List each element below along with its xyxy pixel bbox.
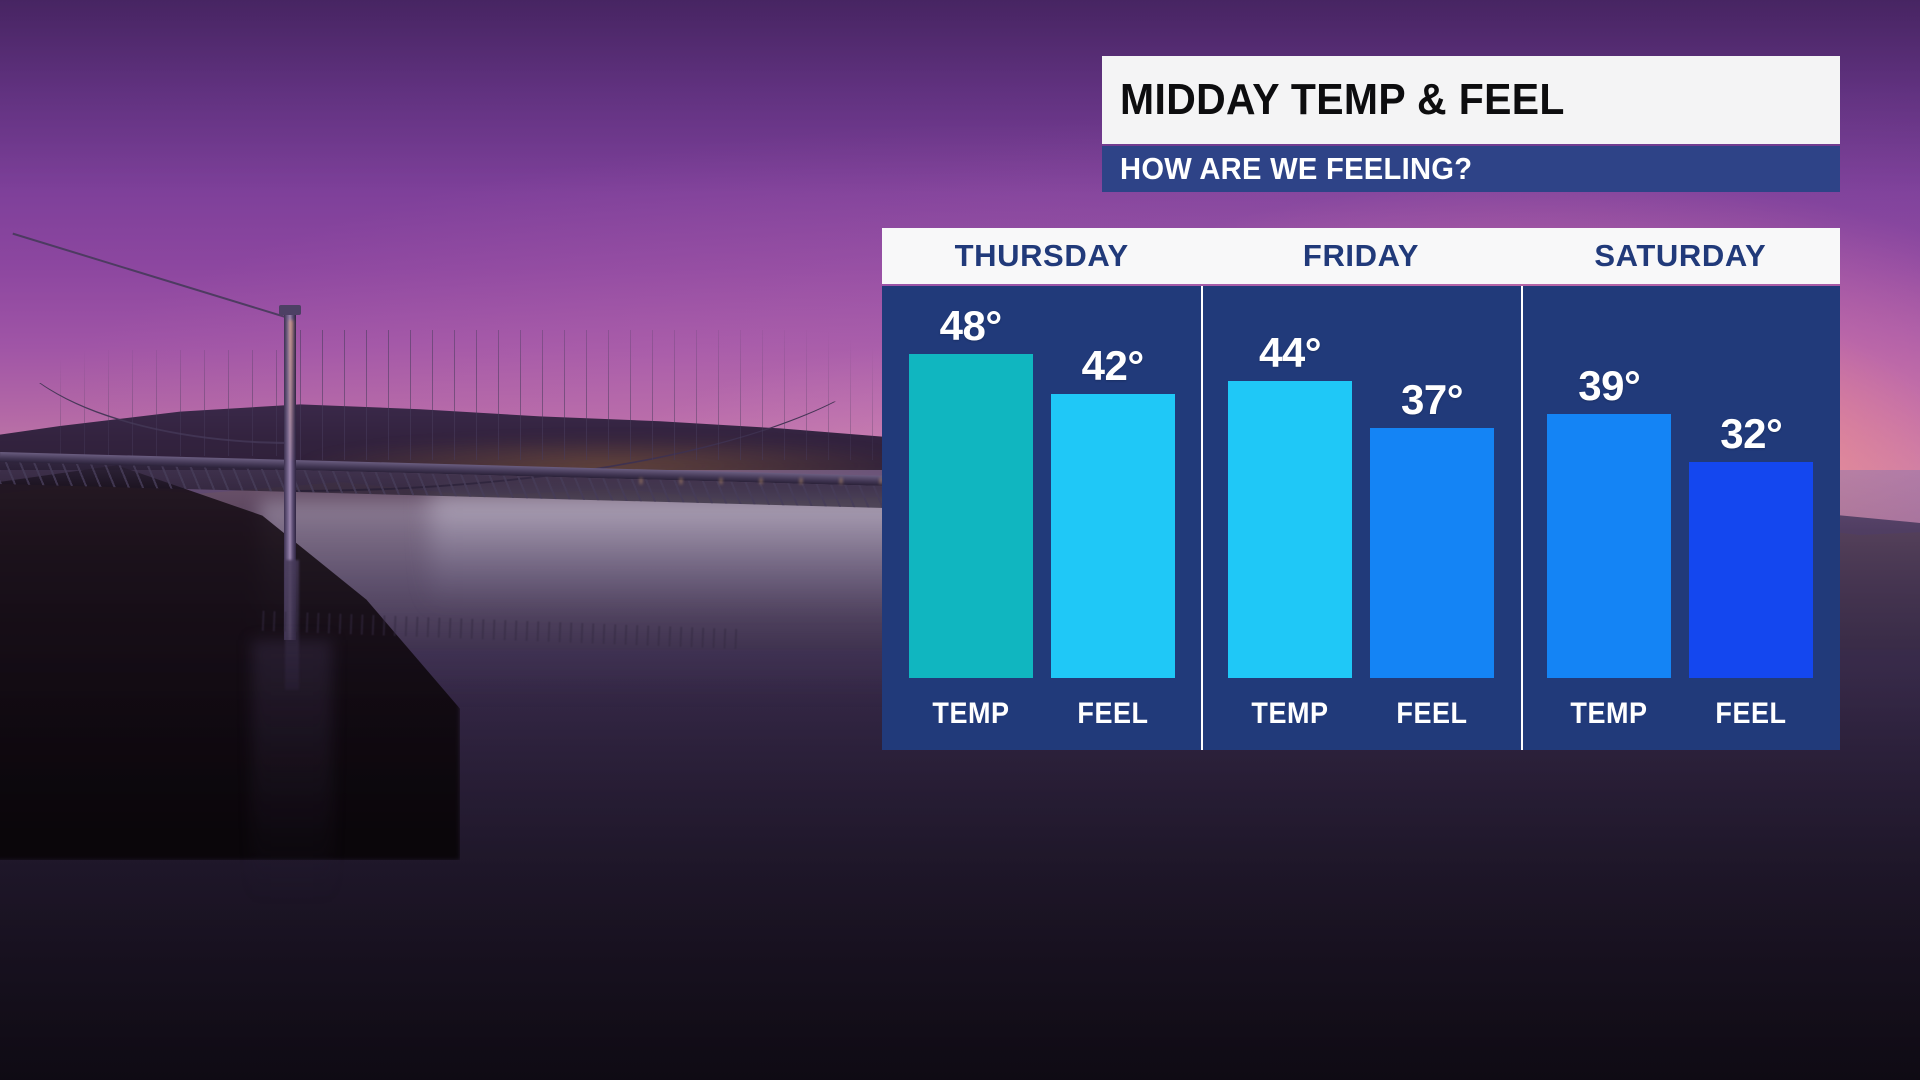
bar-value-label: 32°: [1720, 410, 1782, 458]
bar-thursday-temp[interactable]: [909, 354, 1033, 678]
bar-group-thursday-feel: 42°: [1051, 286, 1175, 678]
subtitle-bar: HOW ARE WE FEELING?: [1102, 146, 1840, 192]
metric-label-temp: TEMP: [1554, 697, 1666, 731]
metric-label-feel: FEEL: [1057, 697, 1169, 731]
day-header-thursday: THURSDAY: [882, 228, 1201, 284]
bar-value-label: 37°: [1401, 376, 1463, 424]
day-header-label: SATURDAY: [1594, 238, 1766, 274]
bar-group-friday-feel: 37°: [1370, 286, 1494, 678]
metric-labels-row: TEMP FEEL: [882, 678, 1201, 750]
title-bar: MIDDAY TEMP & FEEL: [1102, 56, 1840, 144]
page-title: MIDDAY TEMP & FEEL: [1120, 75, 1565, 125]
bar-value-label: 48°: [940, 302, 1002, 350]
metric-label-temp: TEMP: [1234, 697, 1346, 731]
bar-friday-temp[interactable]: [1228, 381, 1352, 678]
bars-row: 44° 37°: [1201, 286, 1520, 678]
bridge-hangers-right: [300, 330, 900, 460]
bar-chart-panel: 48° 42° TEMP FEEL 44° 3: [882, 286, 1840, 750]
day-column-friday: 44° 37° TEMP FEEL: [1201, 286, 1520, 750]
bridge-hangers-left: [60, 350, 288, 456]
metric-label-temp: TEMP: [915, 697, 1027, 731]
bar-group-thursday-temp: 48°: [909, 286, 1033, 678]
metric-labels-row: TEMP FEEL: [1521, 678, 1840, 750]
bars-row: 48° 42°: [882, 286, 1201, 678]
day-header-label: FRIDAY: [1303, 238, 1419, 274]
bridge-tower-glow: [289, 320, 293, 460]
weather-graphic-stage: MIDDAY TEMP & FEEL HOW ARE WE FEELING? T…: [0, 0, 1920, 1080]
day-column-thursday: 48° 42° TEMP FEEL: [882, 286, 1201, 750]
bar-saturday-temp[interactable]: [1547, 414, 1671, 678]
bar-group-saturday-feel: 32°: [1689, 286, 1813, 678]
bar-thursday-feel[interactable]: [1051, 394, 1175, 678]
bar-friday-feel[interactable]: [1370, 428, 1494, 678]
day-header-saturday: SATURDAY: [1521, 228, 1840, 284]
metric-labels-row: TEMP FEEL: [1201, 678, 1520, 750]
metric-label-feel: FEEL: [1696, 697, 1808, 731]
day-header-row: THURSDAY FRIDAY SATURDAY: [882, 228, 1840, 284]
day-header-label: THURSDAY: [955, 238, 1129, 274]
page-subtitle: HOW ARE WE FEELING?: [1120, 151, 1472, 187]
bar-group-friday-temp: 44°: [1228, 286, 1352, 678]
metric-label-feel: FEEL: [1376, 697, 1488, 731]
water-reflection: [252, 640, 332, 900]
bar-value-label: 39°: [1578, 362, 1640, 410]
day-header-friday: FRIDAY: [1201, 228, 1520, 284]
bridge-lights: [640, 478, 900, 484]
bridge-tower-cap: [279, 305, 301, 315]
bar-group-saturday-temp: 39°: [1547, 286, 1671, 678]
bar-saturday-feel[interactable]: [1689, 462, 1813, 678]
bar-value-label: 44°: [1259, 329, 1321, 377]
bars-row: 39° 32°: [1521, 286, 1840, 678]
bar-value-label: 42°: [1082, 342, 1144, 390]
day-column-saturday: 39° 32° TEMP FEEL: [1521, 286, 1840, 750]
